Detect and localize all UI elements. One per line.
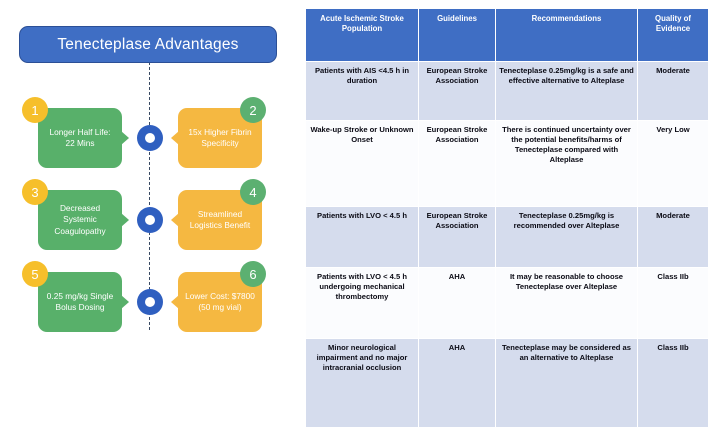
advantage-badge-3: 3 — [22, 179, 48, 205]
cell-guideline: AHA — [419, 268, 496, 339]
cell-quality: Class IIb — [638, 268, 709, 339]
cell-population: Patients with LVO < 4.5 h — [306, 207, 419, 268]
cell-recommendation: Tenecteplase 0.25mg/kg is a safe and eff… — [496, 62, 638, 121]
advantage-row: 3 Decreased Systemic Coagulopathy Stream… — [0, 190, 300, 252]
connector-ring-2 — [137, 207, 163, 233]
advantage-bubble-3: Decreased Systemic Coagulopathy — [38, 190, 122, 250]
table-row: Minor neurological impairment and no maj… — [306, 339, 709, 428]
advantage-badge-4: 4 — [240, 179, 266, 205]
advantage-row: 1 Longer Half Life: 22 Mins 15x Higher F… — [0, 108, 300, 170]
advantage-badge-5: 5 — [22, 261, 48, 287]
table-row: Patients with LVO < 4.5 h European Strok… — [306, 207, 709, 268]
advantage-badge-1: 1 — [22, 97, 48, 123]
cell-quality: Moderate — [638, 62, 709, 121]
cell-recommendation: There is continued uncertainty over the … — [496, 121, 638, 207]
cell-population: Minor neurological impairment and no maj… — [306, 339, 419, 428]
cell-quality: Moderate — [638, 207, 709, 268]
table-header-row: Acute Ischemic Stroke Population Guideli… — [306, 9, 709, 62]
column-header-quality: Quality of Evidence — [638, 9, 709, 62]
cell-population: Wake-up Stroke or Unknown Onset — [306, 121, 419, 207]
cell-guideline: European Stroke Association — [419, 121, 496, 207]
column-header-recommendations: Recommendations — [496, 9, 638, 62]
column-header-population: Acute Ischemic Stroke Population — [306, 9, 419, 62]
tenecteplase-advantages-infographic: Tenecteplase Advantages 1 Longer Half Li… — [0, 0, 300, 404]
cell-population: Patients with LVO < 4.5 h undergoing mec… — [306, 268, 419, 339]
table-row: Wake-up Stroke or Unknown Onset European… — [306, 121, 709, 207]
cell-recommendation: Tenecteplase may be considered as an alt… — [496, 339, 638, 428]
cell-recommendation: Tenecteplase 0.25mg/kg is recommended ov… — [496, 207, 638, 268]
infographic-title-text: Tenecteplase Advantages — [57, 36, 238, 54]
cell-guideline: European Stroke Association — [419, 207, 496, 268]
connector-ring-3 — [137, 289, 163, 315]
cell-recommendation: It may be reasonable to choose Tenectepl… — [496, 268, 638, 339]
advantage-bubble-1: Longer Half Life: 22 Mins — [38, 108, 122, 168]
cell-guideline: AHA — [419, 339, 496, 428]
advantage-bubble-5: 0.25 mg/kg Single Bolus Dosing — [38, 272, 122, 332]
cell-guideline: European Stroke Association — [419, 62, 496, 121]
cell-quality: Very Low — [638, 121, 709, 207]
guidelines-table-container: Acute Ischemic Stroke Population Guideli… — [305, 8, 708, 388]
advantage-badge-6: 6 — [240, 261, 266, 287]
guidelines-table: Acute Ischemic Stroke Population Guideli… — [305, 8, 709, 428]
advantage-row: 5 0.25 mg/kg Single Bolus Dosing Lower C… — [0, 272, 300, 334]
infographic-title-box: Tenecteplase Advantages — [19, 26, 277, 63]
table-row: Patients with LVO < 4.5 h undergoing mec… — [306, 268, 709, 339]
connector-ring-1 — [137, 125, 163, 151]
column-header-guidelines: Guidelines — [419, 9, 496, 62]
advantage-badge-2: 2 — [240, 97, 266, 123]
table-row: Patients with AIS <4.5 h in duration Eur… — [306, 62, 709, 121]
cell-population: Patients with AIS <4.5 h in duration — [306, 62, 419, 121]
cell-quality: Class IIb — [638, 339, 709, 428]
